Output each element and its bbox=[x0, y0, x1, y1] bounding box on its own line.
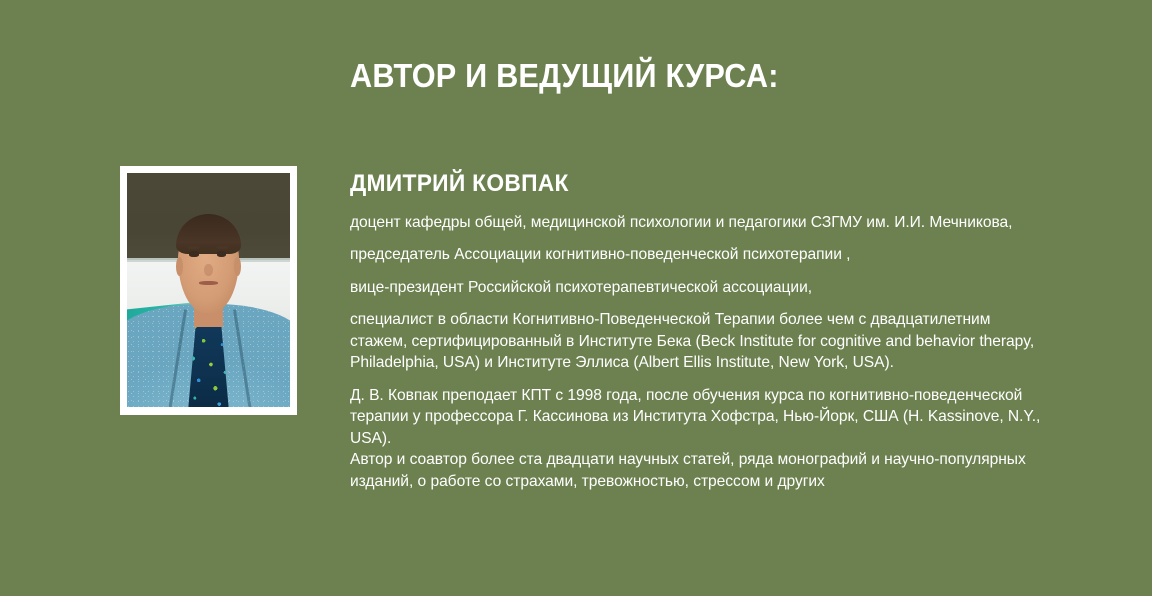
author-bio: ДМИТРИЙ КОВПАК доцент кафедры общей, мед… bbox=[350, 170, 1050, 492]
photo-mouth bbox=[199, 281, 219, 285]
bio-paragraph: доцент кафедры общей, медицинской психол… bbox=[350, 212, 1050, 234]
bio-paragraph: председатель Ассоциации когнитивно-повед… bbox=[350, 244, 1050, 266]
avatar bbox=[127, 173, 290, 407]
photo-eye-right bbox=[217, 251, 227, 256]
bio-paragraph: Д. В. Ковпак преподает КПТ с 1998 года, … bbox=[350, 385, 1050, 450]
photo-eye-left bbox=[189, 251, 199, 256]
slide-root: АВТОР И ВЕДУЩИЙ КУРСА: bbox=[0, 0, 1152, 596]
bio-paragraph: вице-президент Российской психотерапевти… bbox=[350, 277, 1050, 299]
bio-paragraph: Автор и соавтор более ста двадцати научн… bbox=[350, 449, 1050, 492]
bio-paragraph: специалист в области Когнитивно-Поведенч… bbox=[350, 309, 1050, 374]
photo-ear-right bbox=[234, 257, 241, 276]
photo-nose bbox=[204, 264, 212, 276]
author-name: ДМИТРИЙ КОВПАК bbox=[350, 170, 1015, 198]
author-photo-frame bbox=[120, 166, 297, 415]
photo-eyebrow-right bbox=[216, 246, 229, 250]
page-title: АВТОР И ВЕДУЩИЙ КУРСА: bbox=[350, 58, 779, 94]
